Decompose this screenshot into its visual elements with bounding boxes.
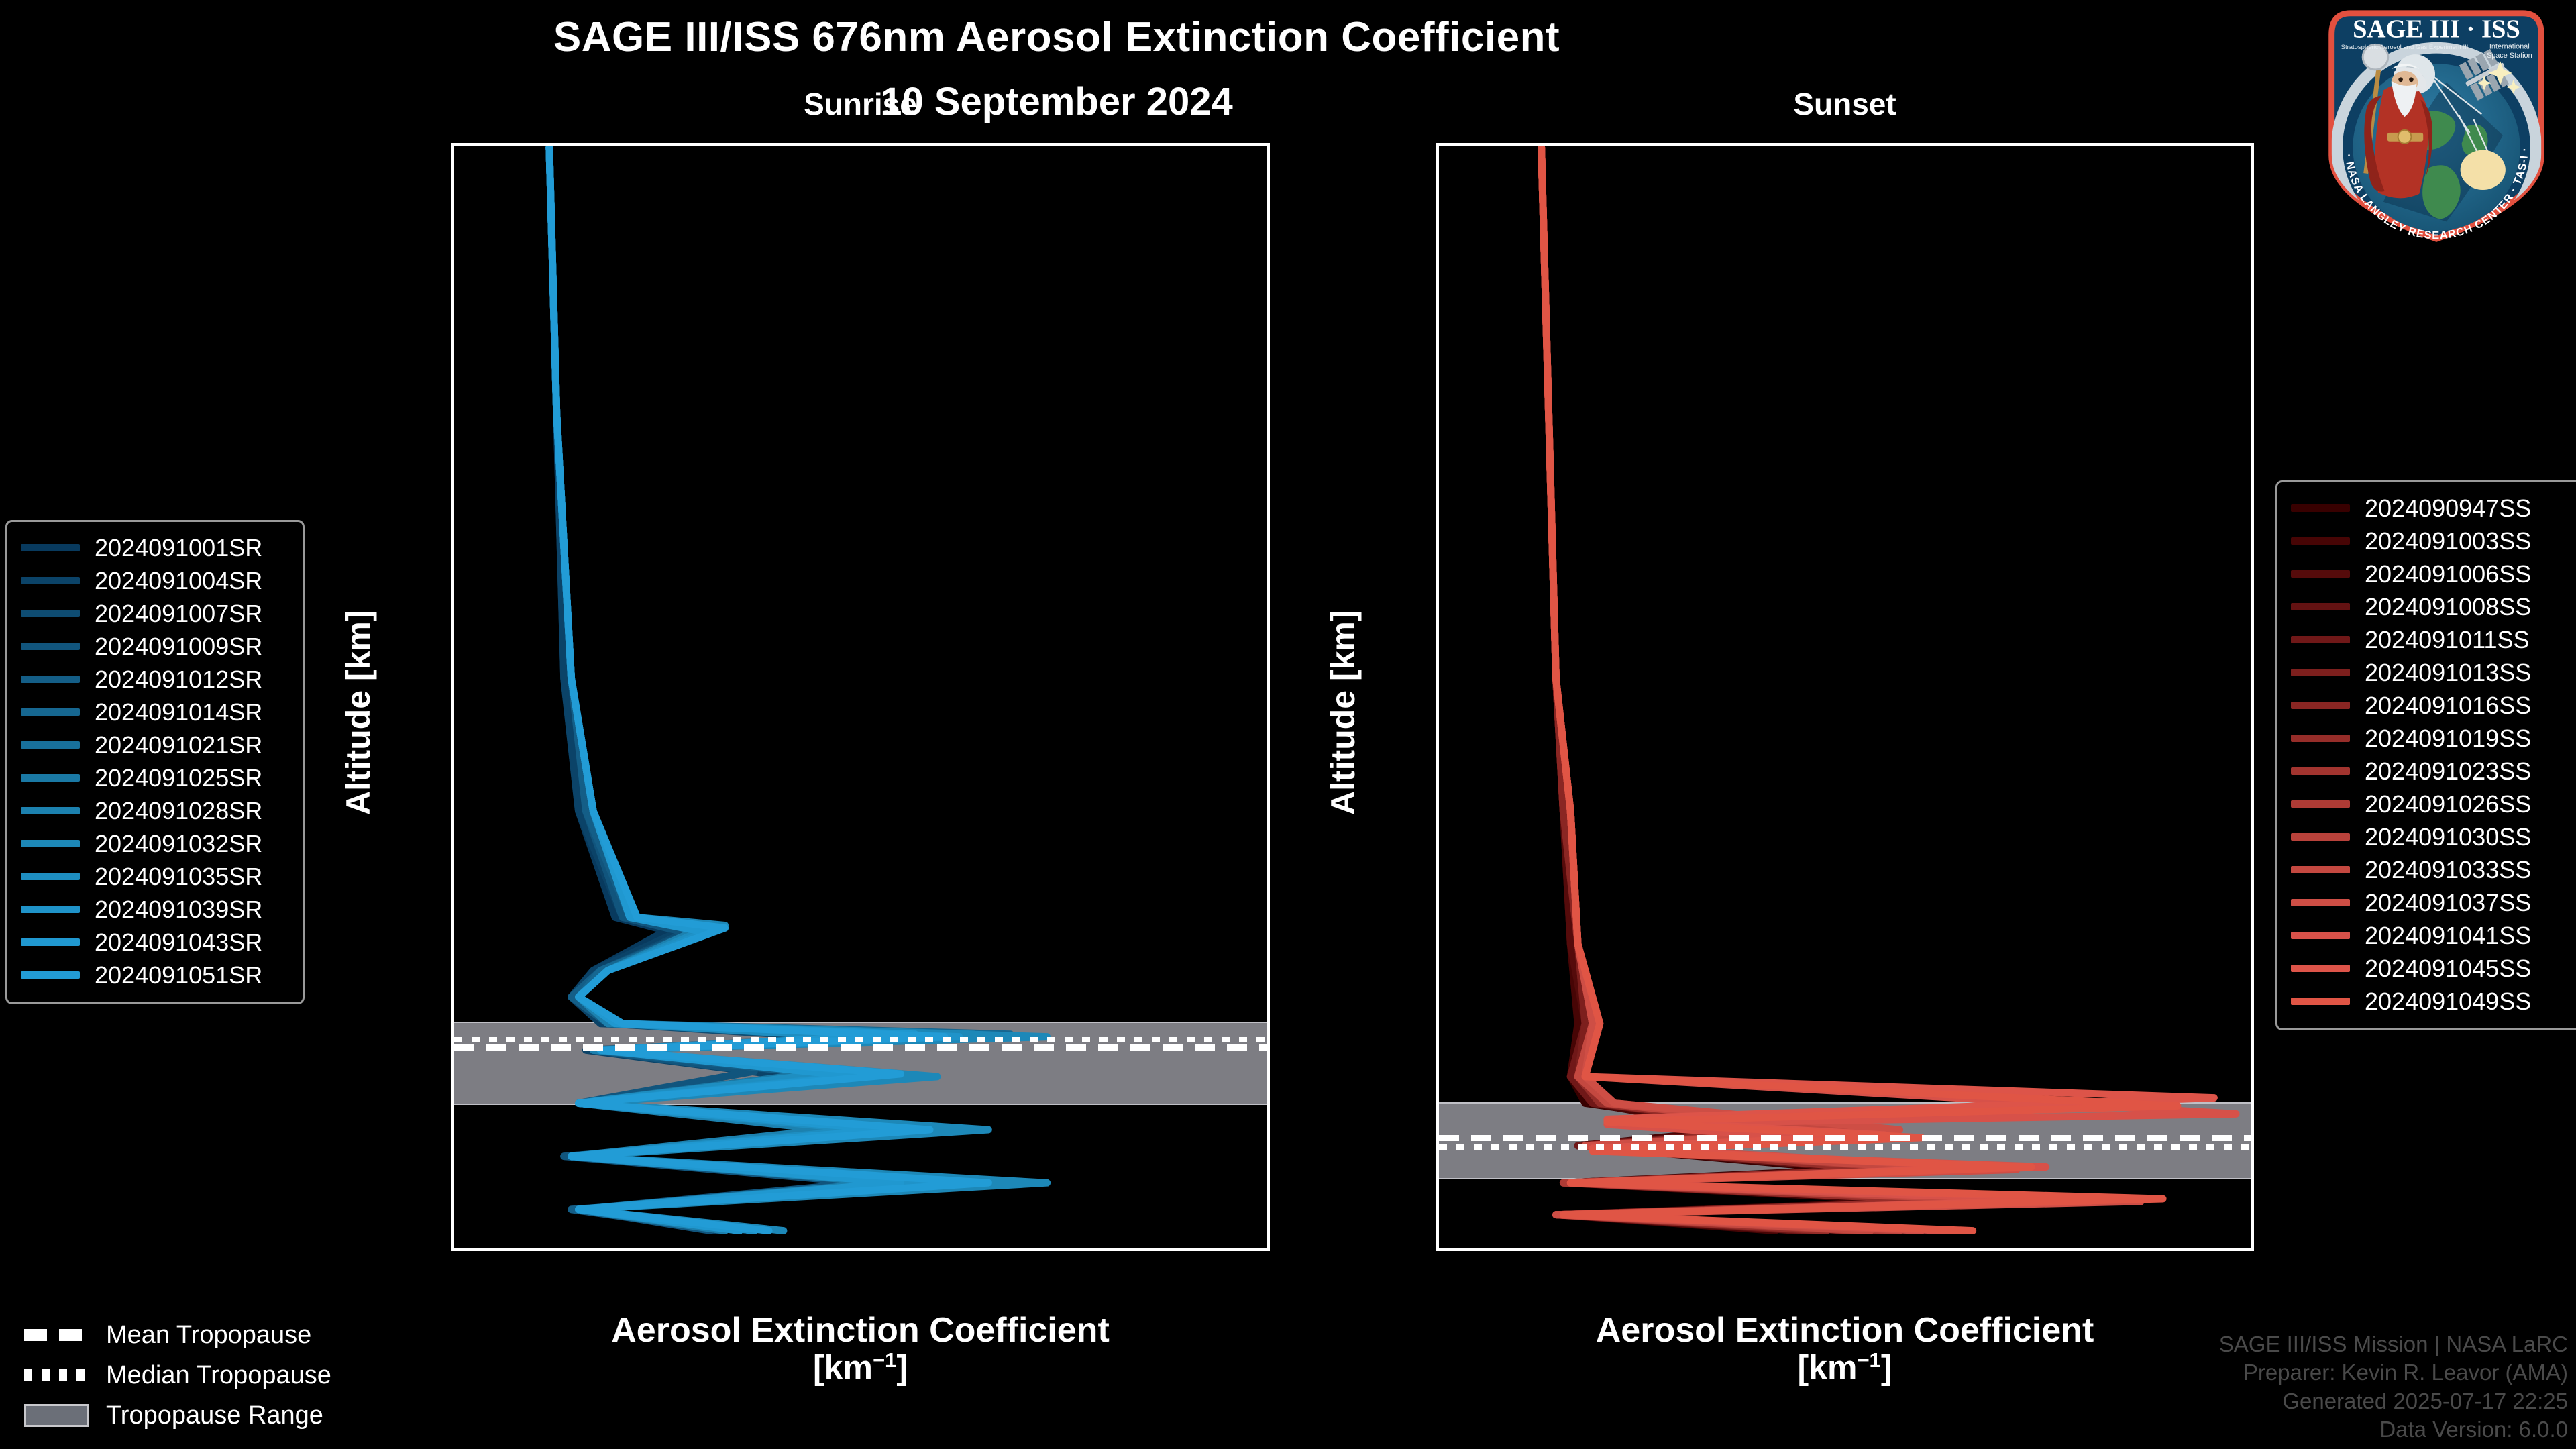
legend-item-sunset[interactable]: 2024090947SS — [2291, 492, 2573, 525]
y-axis-tick — [1436, 680, 1439, 683]
credit-line-version: Data Version: 6.0.0 — [2219, 1415, 2568, 1444]
y-axis-tick — [451, 279, 454, 282]
legend-item-label: 2024091019SS — [2365, 724, 2531, 753]
legend-color-swatch — [2291, 800, 2350, 808]
legend-item-sunset[interactable]: 2024091045SS — [2291, 952, 2573, 985]
legend-item-sunset[interactable]: 2024091019SS — [2291, 722, 2573, 755]
sunrise-x-axis-label: Aerosol Extinction Coefficient [km−1] — [451, 1311, 1270, 1386]
legend-item-label: 2024090947SS — [2365, 494, 2531, 523]
sunrise-x-axis-title: Aerosol Extinction Coefficient — [611, 1311, 1110, 1350]
profile-line — [1542, 148, 1922, 1231]
legend-item-sunrise[interactable]: 2024091028SR — [21, 794, 289, 827]
profile-line — [1542, 148, 1958, 1231]
legend-item-label: 2024091039SR — [95, 896, 262, 924]
profile-line — [1542, 148, 2017, 1231]
y-axis-tick — [451, 680, 454, 683]
legend-item-sunset[interactable]: 2024091003SS — [2291, 525, 2573, 557]
y-axis-tick — [451, 413, 454, 415]
legend-item-label: 2024091007SR — [95, 600, 262, 628]
legend-item-sunset[interactable]: 2024091049SS — [2291, 985, 2573, 1018]
mean-tropopause-line — [454, 1044, 1267, 1051]
profile-line — [1542, 148, 2031, 1231]
mean-tropopause-label: Mean Tropopause — [106, 1321, 311, 1350]
legend-item-median-tropopause: Median Tropopause — [7, 1355, 356, 1395]
y-axis-tick — [451, 948, 454, 951]
legend-item-label: 2024091049SS — [2365, 987, 2531, 1016]
dotted-line-icon — [24, 1369, 89, 1381]
profile-lines — [454, 146, 1267, 1248]
legend-item-label: 2024091011SS — [2365, 626, 2530, 654]
profile-line — [1542, 148, 2031, 1231]
mission-patch-svg: SAGE III · ISS Stratospheric Aerosol and… — [2304, 3, 2569, 248]
legend-item-sunrise[interactable]: 2024091009SR — [21, 630, 289, 663]
legend-item-sunset[interactable]: 2024091006SS — [2291, 557, 2573, 590]
legend-color-swatch — [21, 676, 80, 683]
legend-color-swatch — [2291, 603, 2350, 610]
legend-item-sunrise[interactable]: 2024091043SR — [21, 926, 289, 959]
y-axis-tick — [451, 1216, 454, 1218]
legend-item-label: 2024091026SS — [2365, 790, 2531, 818]
legend-item-sunset[interactable]: 2024091037SS — [2291, 886, 2573, 919]
y-axis-tick — [1436, 279, 1439, 282]
legend-item-sunrise[interactable]: 2024091035SR — [21, 860, 289, 893]
sunrise-legend[interactable]: 2024091001SR2024091004SR2024091007SR2024… — [5, 520, 305, 1004]
credit-line-generated: Generated 2025-07-17 22:25 — [2219, 1387, 2568, 1415]
sunset-legend[interactable]: 2024090947SS2024091003SS2024091006SS2024… — [2275, 480, 2576, 1030]
profile-lines — [1439, 146, 2251, 1248]
logo-title: SAGE III · ISS — [2353, 15, 2520, 43]
legend-color-swatch — [2291, 932, 2350, 939]
profile-line — [1542, 148, 1958, 1231]
legend-item-label: 2024091012SR — [95, 665, 262, 694]
sunrise-x-axis-unit: [km−1] — [451, 1349, 1270, 1386]
legend-item-label: 2024091014SR — [95, 698, 262, 727]
x-axis-tick — [1124, 1248, 1127, 1251]
y-axis-tick — [451, 145, 454, 148]
legend-item-mean-tropopause: Mean Tropopause — [7, 1315, 356, 1355]
legend-item-label: 2024091041SS — [2365, 922, 2531, 950]
legend-item-label: 2024091021SR — [95, 731, 262, 759]
x-axis-tick — [829, 1248, 832, 1251]
page-title: SAGE III/ISS 676nm Aerosol Extinction Co… — [0, 13, 2113, 61]
legend-item-label: 2024091023SS — [2365, 757, 2531, 786]
legend-item-sunrise[interactable]: 2024091039SR — [21, 893, 289, 926]
profile-line — [1542, 148, 2214, 1231]
profile-line — [1542, 148, 2017, 1231]
sunset-plot-area: 1015202530354045500.0000.0020.0040.0060.… — [1436, 143, 2254, 1251]
legend-color-swatch — [21, 577, 80, 584]
legend-color-swatch — [21, 643, 80, 650]
legend-item-label: 2024091001SR — [95, 534, 262, 562]
legend-item-sunset[interactable]: 2024091013SS — [2291, 656, 2573, 689]
sunset-x-axis-label: Aerosol Extinction Coefficient [km−1] — [1436, 1311, 2254, 1386]
x-axis-tick — [977, 1248, 979, 1251]
y-axis-tick — [1436, 1082, 1439, 1085]
y-axis-tick — [1436, 413, 1439, 415]
legend-color-swatch — [2291, 636, 2350, 643]
legend-color-swatch — [21, 906, 80, 913]
tropopause-range-label: Tropopause Range — [106, 1401, 323, 1430]
profile-line — [1542, 148, 2178, 1231]
legend-color-swatch — [21, 741, 80, 749]
sunrise-y-axis-label: Altitude [km] — [339, 610, 378, 815]
legend-item-label: 2024091028SR — [95, 797, 262, 825]
legend-item-sunset[interactable]: 2024091033SS — [2291, 853, 2573, 886]
legend-item-sunrise[interactable]: 2024091001SR — [21, 531, 289, 564]
filled-band-icon — [24, 1404, 89, 1427]
credit-line-mission: SAGE III/ISS Mission | NASA LaRC — [2219, 1330, 2568, 1358]
legend-item-label: 2024091009SR — [95, 633, 262, 661]
y-axis-tick — [1436, 145, 1439, 148]
legend-color-swatch — [21, 873, 80, 880]
x-axis-tick — [1519, 1248, 1521, 1251]
legend-color-swatch — [2291, 965, 2350, 972]
legend-item-label: 2024091051SR — [95, 961, 262, 989]
legend-item-sunrise[interactable]: 2024091004SR — [21, 564, 289, 597]
legend-item-label: 2024091013SS — [2365, 659, 2531, 687]
legend-color-swatch — [21, 774, 80, 782]
mean-tropopause-line — [1439, 1135, 2251, 1141]
legend-item-label: 2024091043SR — [95, 928, 262, 957]
legend-color-swatch — [21, 708, 80, 716]
x-axis-tick — [682, 1248, 684, 1251]
y-axis-tick — [1436, 547, 1439, 549]
legend-item-label: 2024091045SS — [2365, 955, 2531, 983]
legend-item-sunrise[interactable]: 2024091032SR — [21, 827, 289, 860]
legend-color-swatch — [2291, 504, 2350, 512]
legend-item-label: 2024091032SR — [95, 830, 262, 858]
legend-item-label: 2024091004SR — [95, 567, 262, 595]
y-axis-tick — [451, 814, 454, 817]
legend-color-swatch — [21, 971, 80, 979]
sunset-y-axis-label: Altitude [km] — [1324, 610, 1362, 815]
legend-item-sunset[interactable]: 2024091016SS — [2291, 689, 2573, 722]
legend-item-sunrise[interactable]: 2024091021SR — [21, 729, 289, 761]
legend-color-swatch — [2291, 669, 2350, 676]
credits-block: SAGE III/ISS Mission | NASA LaRC Prepare… — [2219, 1330, 2568, 1444]
y-axis-tick — [1436, 814, 1439, 817]
sunrise-plot-area: 1015202530354045500.0000.0020.0040.0060.… — [451, 143, 1270, 1251]
legend-color-swatch — [2291, 702, 2350, 709]
logo-subtitle-right-2: Space Station — [2487, 52, 2532, 60]
legend-item-label: 2024091016SS — [2365, 692, 2531, 720]
y-axis-tick — [1436, 1216, 1439, 1218]
legend-item-label: 2024091035SR — [95, 863, 262, 891]
legend-item-sunset[interactable]: 2024091008SS — [2291, 590, 2573, 623]
logo-subtitle-left: Stratospheric Aerosol and Gas Experiment… — [2341, 44, 2469, 51]
legend-color-swatch — [2291, 767, 2350, 775]
credit-line-preparer: Preparer: Kevin R. Leavor (AMA) — [2219, 1358, 2568, 1387]
legend-color-swatch — [2291, 866, 2350, 873]
logo-subtitle-right-1: International — [2489, 42, 2530, 50]
legend-item-sunrise[interactable]: 2024091007SR — [21, 597, 289, 630]
legend-color-swatch — [2291, 537, 2350, 545]
legend-color-swatch — [21, 840, 80, 847]
legend-color-swatch — [2291, 735, 2350, 742]
y-axis-tick — [451, 1082, 454, 1085]
y-axis-tick — [451, 547, 454, 549]
legend-item-sunset[interactable]: 2024091030SS — [2291, 820, 2573, 853]
legend-color-swatch — [2291, 833, 2350, 841]
legend-item-sunset[interactable]: 2024091041SS — [2291, 919, 2573, 952]
legend-color-swatch — [21, 610, 80, 617]
x-axis-tick — [1961, 1248, 1964, 1251]
sunset-panel-title: Sunset — [1436, 86, 2254, 122]
profile-line — [1542, 148, 2237, 1231]
legend-color-swatch — [2291, 998, 2350, 1005]
y-axis-tick — [1436, 948, 1439, 951]
legend-color-swatch — [21, 544, 80, 551]
legend-item-sunrise[interactable]: 2024091014SR — [21, 696, 289, 729]
profile-line — [1542, 148, 1973, 1231]
profile-line — [1542, 148, 2104, 1231]
legend-item-label: 2024091008SS — [2365, 593, 2531, 621]
median-tropopause-label: Median Tropopause — [106, 1361, 331, 1390]
legend-color-swatch — [2291, 899, 2350, 906]
legend-item-label: 2024091030SS — [2365, 823, 2531, 851]
profile-line — [1542, 148, 2141, 1231]
legend-item-label: 2024091003SS — [2365, 527, 2531, 555]
median-tropopause-line — [454, 1037, 1267, 1042]
x-axis-tick — [1666, 1248, 1669, 1251]
legend-color-swatch — [2291, 570, 2350, 578]
legend-item-label: 2024091006SS — [2365, 560, 2531, 588]
x-axis-tick — [534, 1248, 537, 1251]
tropopause-legend: Mean Tropopause Median Tropopause Tropop… — [7, 1315, 356, 1436]
legend-color-swatch — [21, 938, 80, 946]
sunset-x-axis-unit: [km−1] — [1436, 1349, 2254, 1386]
x-axis-tick — [2108, 1248, 2111, 1251]
sunset-x-axis-title: Aerosol Extinction Coefficient — [1596, 1311, 2094, 1350]
legend-item-tropopause-range: Tropopause Range — [7, 1395, 356, 1436]
legend-item-label: 2024091033SS — [2365, 856, 2531, 884]
sunrise-panel-title: Sunrise — [451, 86, 1270, 122]
legend-item-label: 2024091025SR — [95, 764, 262, 792]
profile-line — [1542, 148, 2046, 1231]
legend-item-sunrise[interactable]: 2024091012SR — [21, 663, 289, 696]
legend-item-sunrise[interactable]: 2024091025SR — [21, 761, 289, 794]
x-axis-tick — [1814, 1248, 1817, 1251]
sage-iii-iss-mission-patch-logo: SAGE III · ISS Stratospheric Aerosol and… — [2304, 3, 2569, 248]
legend-color-swatch — [21, 807, 80, 814]
median-tropopause-line — [1439, 1144, 2251, 1150]
legend-item-sunrise[interactable]: 2024091051SR — [21, 959, 289, 991]
dashed-line-icon — [24, 1329, 89, 1341]
profile-line — [1542, 148, 2068, 1231]
legend-item-sunset[interactable]: 2024091011SS — [2291, 623, 2573, 656]
legend-item-sunset[interactable]: 2024091026SS — [2291, 788, 2573, 820]
profile-line — [1542, 148, 1995, 1231]
legend-item-label: 2024091037SS — [2365, 889, 2531, 917]
legend-item-sunset[interactable]: 2024091023SS — [2291, 755, 2573, 788]
